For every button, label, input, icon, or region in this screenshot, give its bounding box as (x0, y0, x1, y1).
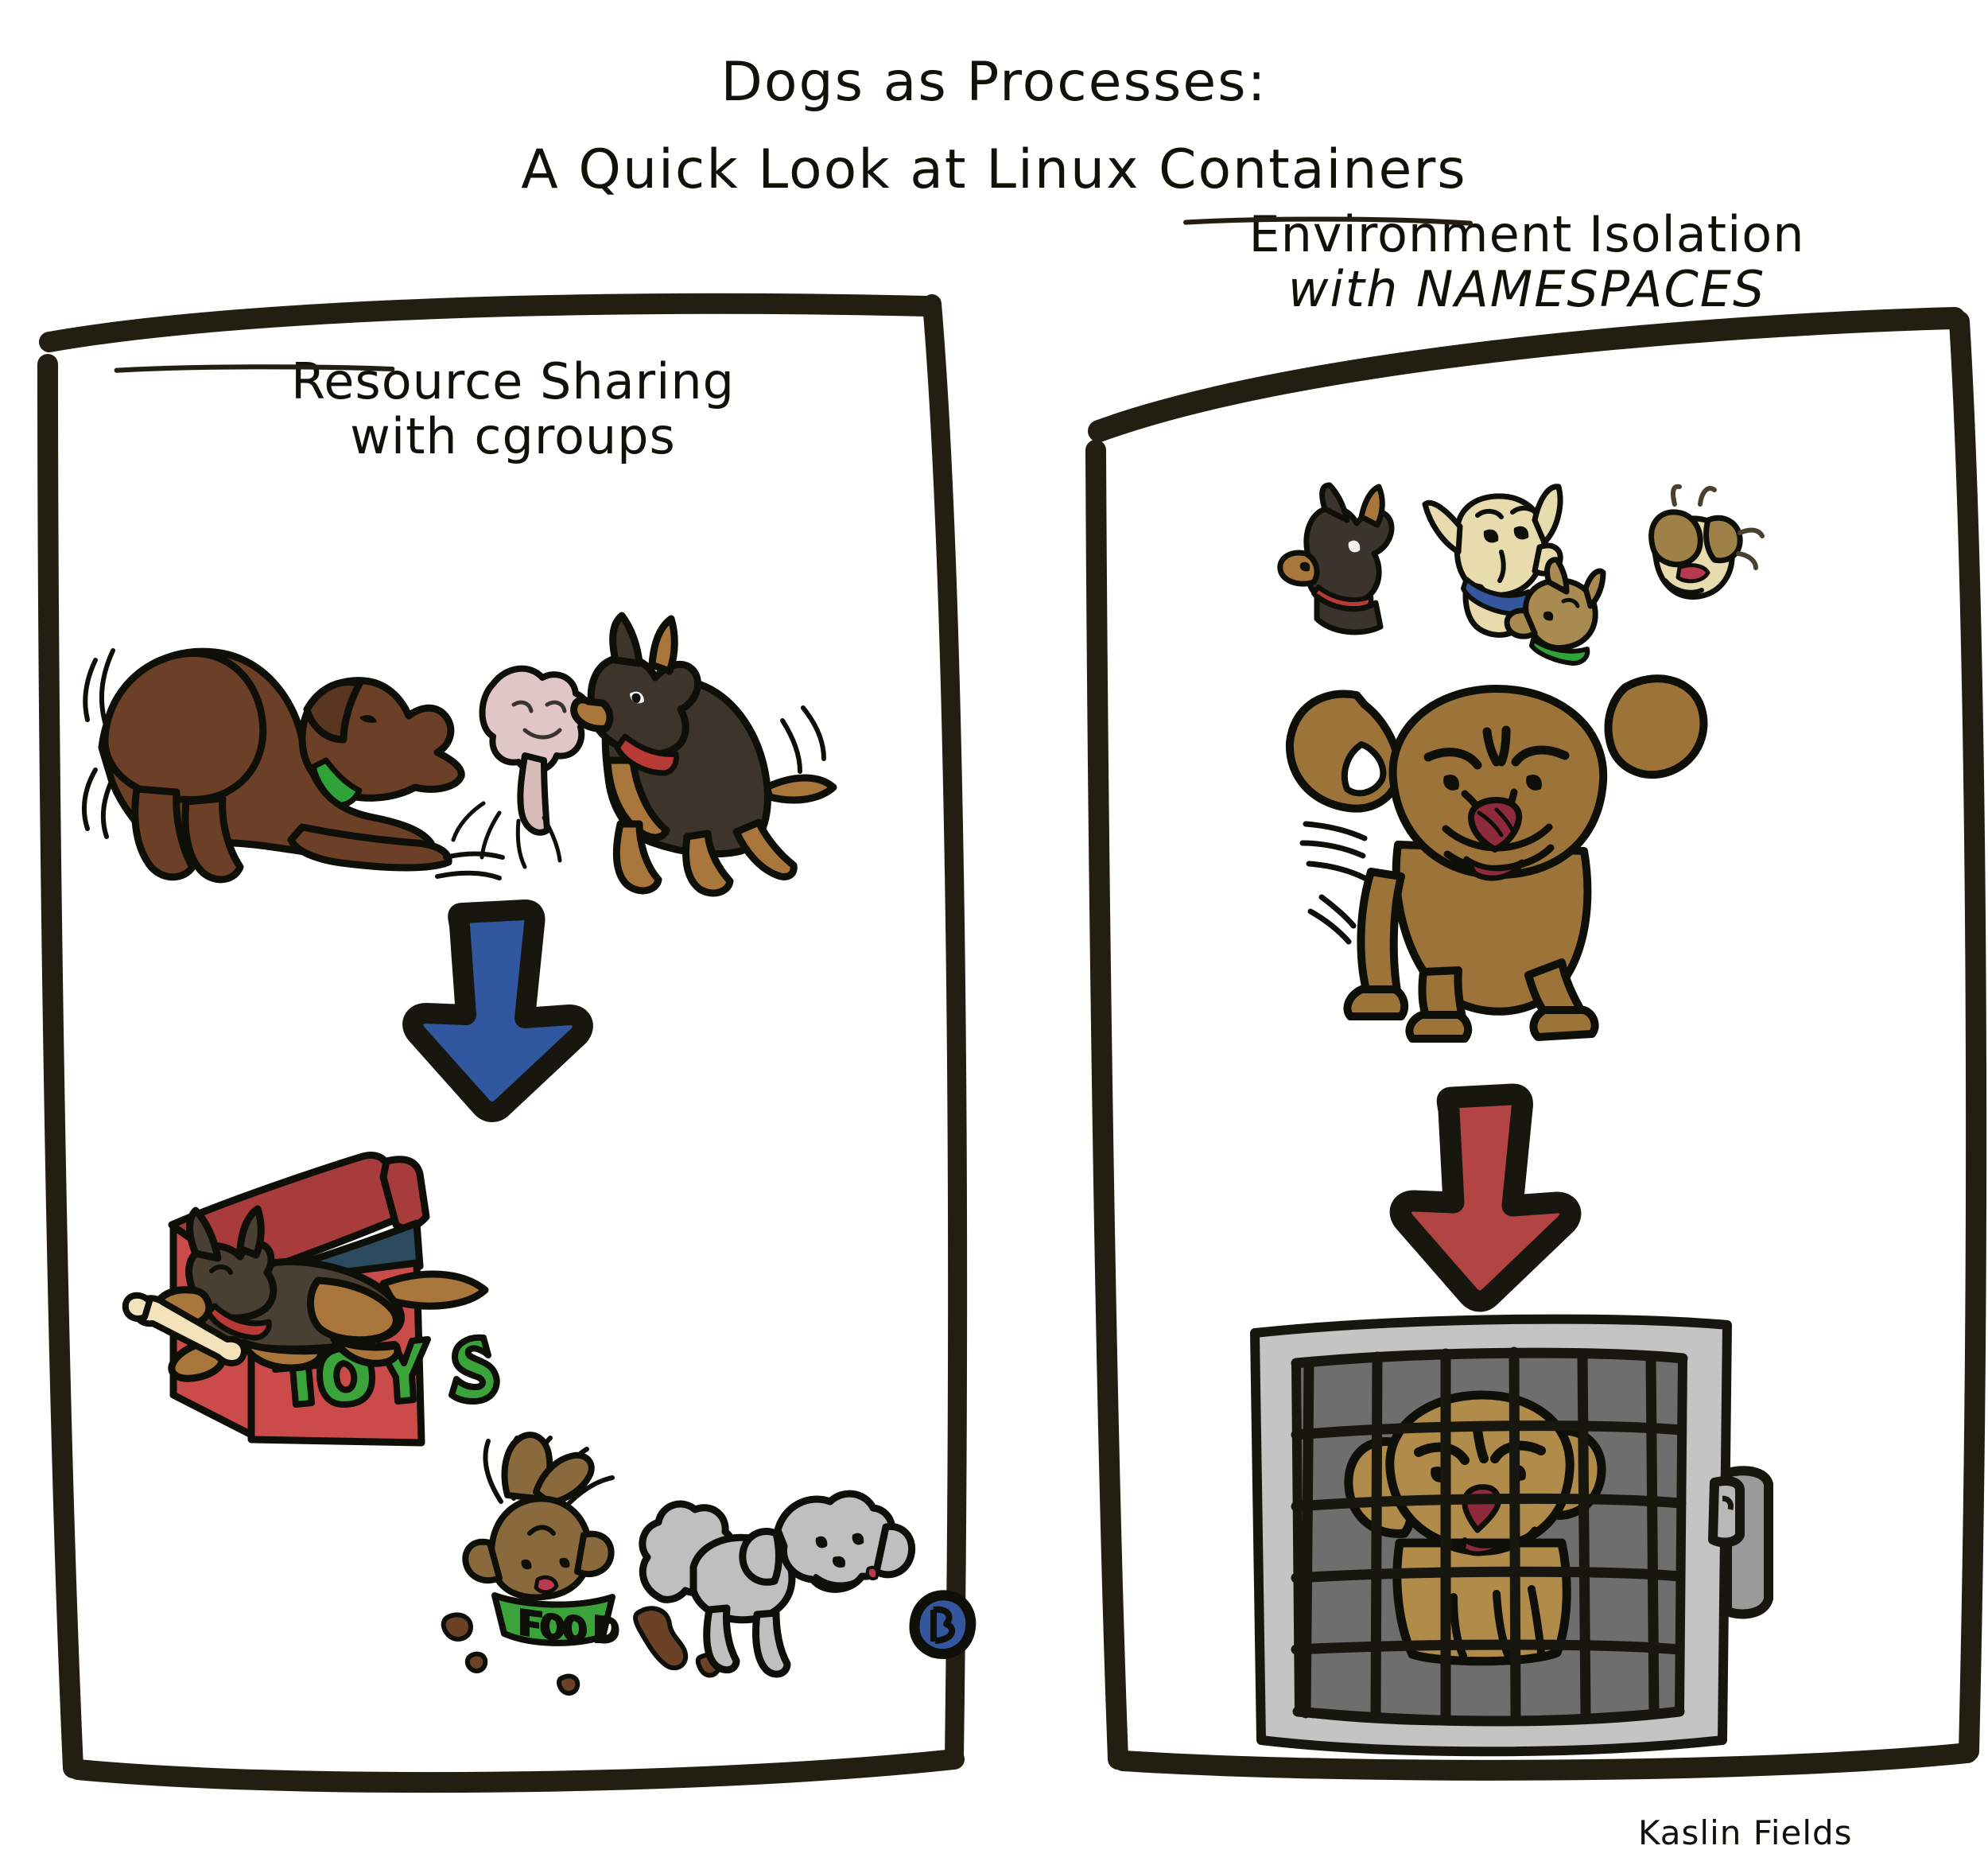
scene-tug-of-war (64, 604, 875, 923)
panel-heading-line-2: with cgroups (0, 409, 1026, 464)
panel-cgroups: Resource Sharing with cgroups (0, 262, 1026, 1789)
panel-namespaces: Environment Isolation with NAMESPACES (1066, 262, 1988, 1789)
panel-heading-namespaces: Environment Isolation with NAMESPACES (1066, 207, 1988, 317)
scene-shared-resources (87, 1121, 954, 1694)
panel-heading-line-1: Environment Isolation (1066, 207, 1988, 262)
shaggy-dog-head (1652, 487, 1762, 597)
brown-lab (84, 651, 461, 880)
comic-title: Dogs as Processes: A Quick Look at Linux… (0, 56, 1988, 197)
dog-head-thumbnails (1272, 485, 1765, 676)
plush-toy (453, 669, 588, 867)
heading-underline (1066, 218, 1590, 226)
artist-signature: Kaslin Fields (1638, 1813, 1853, 1852)
panel-heading-line-2: with NAMESPACES (1066, 262, 1988, 317)
doberman-head (1280, 485, 1392, 632)
heading-underline (0, 365, 509, 373)
doberman-tug (574, 616, 833, 893)
panel-heading-cgroups: Resource Sharing with cgroups (0, 354, 1026, 464)
title-line-1: Dogs as Processes: (0, 56, 1988, 110)
comic-canvas: Dogs as Processes: A Quick Look at Linux… (0, 0, 1988, 1869)
arrow-down-red (1384, 1082, 1582, 1312)
dog-crate (1241, 1304, 1797, 1774)
ball (914, 1595, 971, 1654)
title-line-2: A Quick Look at Linux Containers (0, 143, 1988, 197)
grumpy-brown-dog (1288, 660, 1781, 1058)
tail-motion-lines (1303, 824, 1365, 942)
panel-heading-line-1: Resource Sharing (0, 354, 1026, 409)
arrow-down-blue (398, 899, 596, 1121)
